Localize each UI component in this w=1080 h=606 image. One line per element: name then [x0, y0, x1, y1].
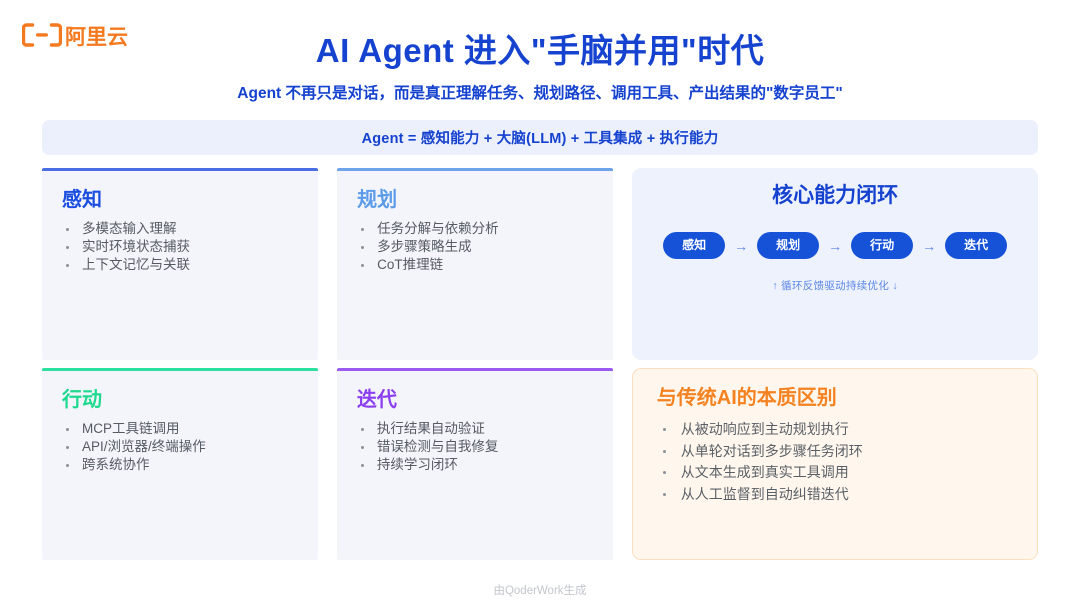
arrow-right-icon: →	[734, 239, 748, 253]
loop-step-iteration[interactable]: 迭代	[945, 232, 1007, 259]
card-perception[interactable]: 感知 多模态输入理解 实时环境状态捕获 上下文记忆与关联	[42, 168, 318, 360]
card-bullet-list: MCP工具链调用 API/浏览器/终端操作 跨系统协作	[62, 420, 298, 474]
list-item: 任务分解与依赖分析	[357, 220, 593, 238]
arrow-right-icon: →	[828, 239, 842, 253]
card-bullet-list: 多模态输入理解 实时环境状态捕获 上下文记忆与关联	[62, 220, 298, 274]
card-title: 感知	[62, 189, 298, 211]
card-title: 迭代	[357, 389, 593, 411]
list-item: 跨系统协作	[62, 456, 298, 474]
list-item: 错误检测与自我修复	[357, 438, 593, 456]
difference-panel-title: 与传统AI的本质区别	[657, 387, 1013, 409]
card-bullet-list: 任务分解与依赖分析 多步骤策略生成 CoT推理链	[357, 220, 593, 274]
core-loop-caption: ↑ 循环反馈驱动持续优化 ↓	[632, 278, 1038, 293]
agent-formula-banner: Agent = 感知能力 + 大脑(LLM) + 工具集成 + 执行能力	[42, 120, 1038, 155]
difference-bullet-list: 从被动响应到主动规划执行 从单轮对话到多步骤任务闭环 从文本生成到真实工具调用 …	[657, 419, 1013, 506]
core-loop-title: 核心能力闭环	[632, 183, 1038, 208]
card-iteration[interactable]: 迭代 执行结果自动验证 错误检测与自我修复 持续学习闭环	[337, 368, 613, 560]
list-item: 多步骤策略生成	[357, 238, 593, 256]
page-title: AI Agent 进入"手脑并用"时代	[0, 30, 1080, 71]
list-item: 多模态输入理解	[62, 220, 298, 238]
difference-panel: 与传统AI的本质区别 从被动响应到主动规划执行 从单轮对话到多步骤任务闭环 从文…	[632, 368, 1038, 560]
loop-step-perception[interactable]: 感知	[663, 232, 725, 259]
list-item: MCP工具链调用	[62, 420, 298, 438]
list-item: 上下文记忆与关联	[62, 256, 298, 274]
card-title: 行动	[62, 389, 298, 411]
capability-grid: 感知 多模态输入理解 实时环境状态捕获 上下文记忆与关联 规划 任务分解与依赖分…	[42, 168, 1038, 560]
card-planning[interactable]: 规划 任务分解与依赖分析 多步骤策略生成 CoT推理链	[337, 168, 613, 360]
core-loop-panel: 核心能力闭环 感知 → 规划 → 行动 → 迭代 ↑ 循环反馈驱动持续优化 ↓	[632, 168, 1038, 360]
list-item: CoT推理链	[357, 256, 593, 274]
list-item: 从被动响应到主动规划执行	[657, 419, 1013, 441]
list-item: 执行结果自动验证	[357, 420, 593, 438]
grid-row-top: 感知 多模态输入理解 实时环境状态捕获 上下文记忆与关联 规划 任务分解与依赖分…	[42, 168, 1038, 360]
card-title: 规划	[357, 189, 593, 211]
grid-row-bottom: 行动 MCP工具链调用 API/浏览器/终端操作 跨系统协作 迭代 执行结果自动…	[42, 368, 1038, 560]
loop-step-planning[interactable]: 规划	[757, 232, 819, 259]
loop-step-action[interactable]: 行动	[851, 232, 913, 259]
core-loop-flow: 感知 → 规划 → 行动 → 迭代	[632, 232, 1038, 259]
card-action[interactable]: 行动 MCP工具链调用 API/浏览器/终端操作 跨系统协作	[42, 368, 318, 560]
footer-credit: 由QoderWork生成	[0, 582, 1080, 598]
list-item: 从人工监督到自动纠错迭代	[657, 484, 1013, 506]
list-item: 持续学习闭环	[357, 456, 593, 474]
agent-formula-text: Agent = 感知能力 + 大脑(LLM) + 工具集成 + 执行能力	[362, 127, 719, 148]
list-item: 实时环境状态捕获	[62, 238, 298, 256]
list-item: API/浏览器/终端操作	[62, 438, 298, 456]
page-subtitle: Agent 不再只是对话，而是真正理解任务、规划路径、调用工具、产出结果的"数字…	[0, 84, 1080, 104]
arrow-right-icon: →	[922, 239, 936, 253]
list-item: 从文本生成到真实工具调用	[657, 462, 1013, 484]
card-bullet-list: 执行结果自动验证 错误检测与自我修复 持续学习闭环	[357, 420, 593, 474]
list-item: 从单轮对话到多步骤任务闭环	[657, 441, 1013, 463]
